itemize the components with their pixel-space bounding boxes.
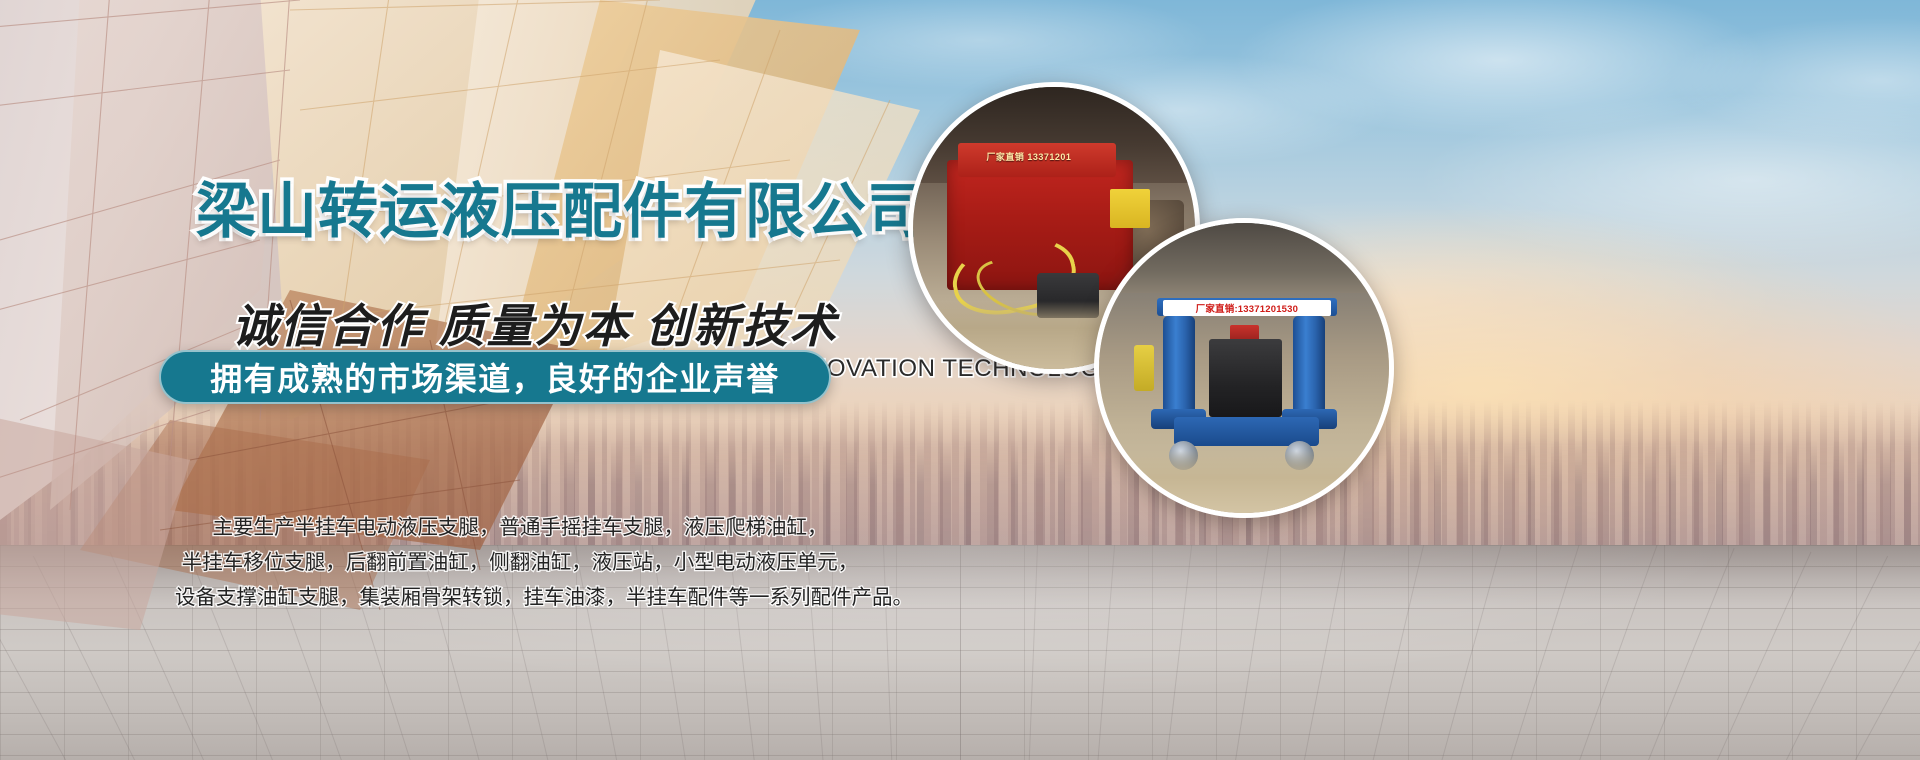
blue-photo-yellow-object [1134, 345, 1154, 391]
hero-text-block: 梁山转运液压配件有限公司 诚信合作 质量为本 创新技术 GOOD FAITH C… [0, 0, 1030, 760]
page-title: 梁山转运液压配件有限公司 [196, 163, 928, 250]
blue-machine-cylinder-left [1163, 316, 1195, 415]
description-line-3: 设备支撑油缸支腿，集装厢骨架转锁，挂车油漆，半挂车配件等一系列配件产品。 [175, 580, 865, 615]
blue-machine-cylinder-right [1293, 316, 1325, 415]
blue-photo-workshop-dark [1099, 223, 1389, 293]
blue-machine-sign-text: 厂家直销:13371201530 [1196, 301, 1298, 315]
product-photo-blue-machine: 厂家直销:13371201530 [1094, 218, 1394, 518]
blue-photo-ground [1099, 449, 1389, 513]
description-line-1: 主要生产半挂车电动液压支腿，普通手摇挂车支腿，液压爬梯油缸， [175, 510, 865, 545]
description-paragraph: 主要生产半挂车电动液压支腿，普通手摇挂车支腿，液压爬梯油缸， 半挂车移位支腿，后… [175, 510, 865, 615]
blue-machine-control-box [1209, 339, 1282, 417]
blue-machine-image: 厂家直销:13371201530 [1099, 223, 1389, 513]
highlight-pill-label: 拥有成熟的市场渠道，良好的企业声誉 [159, 350, 831, 404]
highlight-pill: 拥有成熟的市场渠道，良好的企业声誉 [159, 350, 831, 404]
hero-banner: 梁山转运液压配件有限公司 诚信合作 质量为本 创新技术 GOOD FAITH C… [0, 0, 1920, 760]
description-line-2: 半挂车移位支腿，后翻前置油缸，侧翻油缸，液压站，小型电动液压单元， [175, 545, 865, 580]
slogan-chinese: 诚信合作 质量为本 创新技术 [232, 290, 838, 356]
red-machine-label-text: 厂家直销 13371201 [986, 150, 1071, 163]
blue-machine-sign: 厂家直销:13371201530 [1163, 300, 1331, 316]
